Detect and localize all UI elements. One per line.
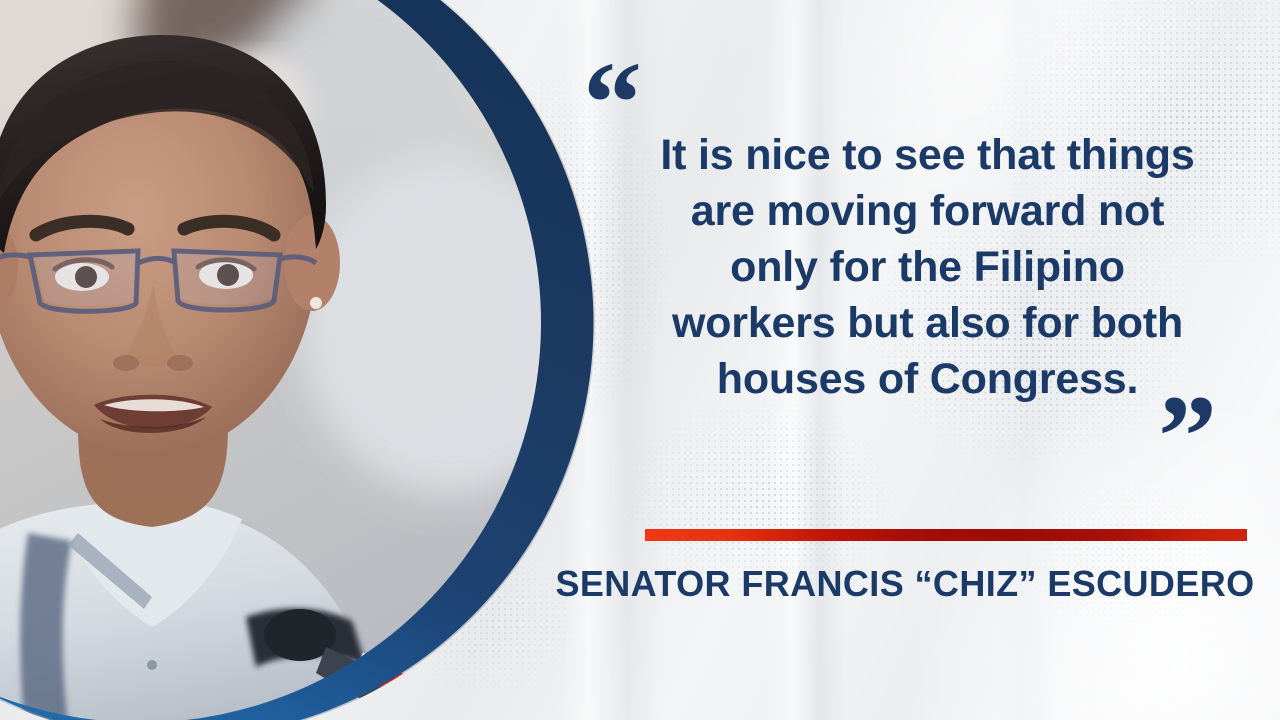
quote-line: only for the Filipino <box>600 240 1255 296</box>
quote-card: “ It is nice to see that things are movi… <box>0 0 1280 720</box>
attribution-name: SENATOR FRANCIS “CHIZ” ESCUDERO <box>555 563 1255 605</box>
closing-quote-icon: ” <box>1158 378 1219 496</box>
quote-line: are moving forward not <box>600 184 1255 240</box>
quote-line: workers but also for both <box>600 296 1255 352</box>
quote-line: houses of Congress. <box>600 352 1255 408</box>
red-divider <box>645 529 1247 541</box>
quote-line: It is nice to see that things <box>600 128 1255 184</box>
quote-text: It is nice to see that things are moving… <box>600 128 1255 407</box>
